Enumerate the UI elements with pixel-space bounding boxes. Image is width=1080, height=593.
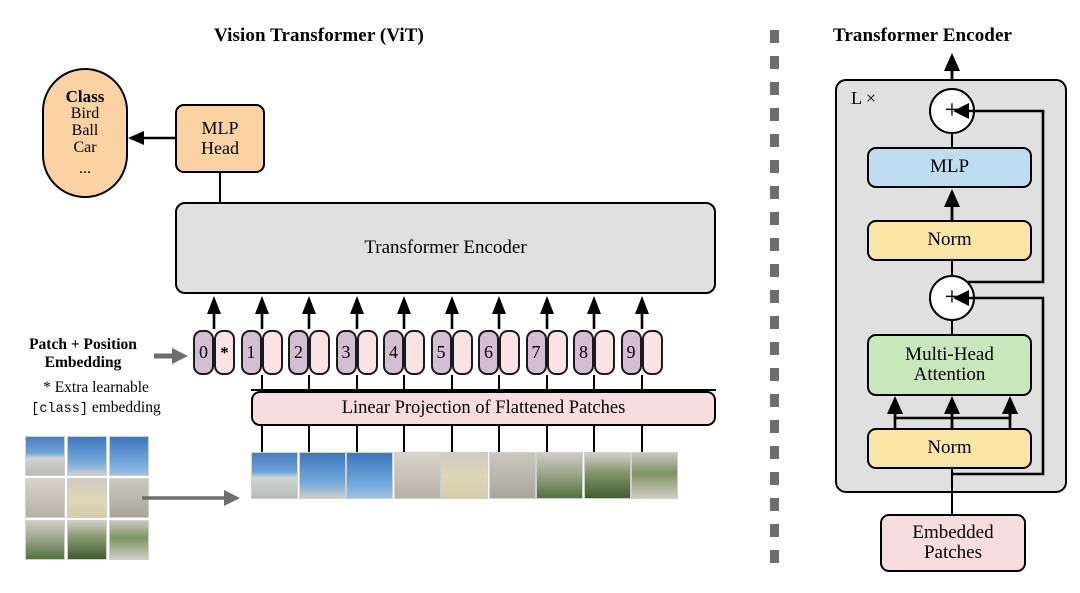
page-title-left: Vision Transformer (ViT) bbox=[214, 25, 424, 47]
token-to-projection-connector bbox=[356, 375, 358, 389]
token-to-encoder-arrow bbox=[632, 295, 652, 329]
class-output-box: Class Bird Ball Car ... bbox=[42, 68, 128, 198]
patch-position-embedding-label: Patch + Position Embedding bbox=[8, 336, 158, 372]
token-to-projection-connector bbox=[641, 375, 643, 389]
source-image-patch bbox=[67, 478, 107, 518]
embedded-patches-box: Embedded Patches bbox=[880, 514, 1026, 572]
patch-embedding-token: * bbox=[214, 330, 235, 375]
class-box-item: Bird bbox=[71, 106, 99, 123]
footnote-line1: * Extra learnable bbox=[16, 378, 176, 398]
mlp-head-label-line2: Head bbox=[201, 139, 239, 158]
token-to-encoder-arrow bbox=[584, 295, 604, 329]
source-image-patch bbox=[67, 436, 107, 476]
position-embedding-token: 4 bbox=[383, 330, 404, 375]
token-to-encoder-arrow bbox=[394, 295, 414, 329]
source-image-patch bbox=[109, 520, 149, 560]
class-box-item: Car bbox=[73, 140, 96, 157]
class-box-ellipsis: ... bbox=[79, 161, 91, 178]
flattened-patch bbox=[346, 452, 393, 499]
patch-embedding-token bbox=[547, 330, 568, 375]
class-box-item: Ball bbox=[72, 123, 99, 140]
footnote-class-token: [class] bbox=[31, 402, 88, 417]
position-embedding-token: 7 bbox=[526, 330, 547, 375]
source-image-patch bbox=[25, 478, 65, 518]
token-to-encoder-arrow bbox=[252, 295, 272, 329]
source-image-to-patches-arrow-icon bbox=[142, 488, 242, 508]
source-image-grid bbox=[25, 436, 151, 562]
token-to-projection-connector bbox=[261, 375, 263, 389]
embedding-label-line1: Patch + Position bbox=[8, 336, 158, 354]
mlp-head-label-line1: MLP bbox=[201, 119, 238, 138]
patch-embedding-token bbox=[594, 330, 615, 375]
token-to-projection-connector bbox=[498, 375, 500, 389]
token-to-projection-connector bbox=[308, 375, 310, 389]
position-embedding-token: 8 bbox=[573, 330, 594, 375]
transformer-encoder-bar: Transformer Encoder bbox=[175, 202, 716, 294]
linear-projection-bar: Linear Projection of Flattened Patches bbox=[251, 391, 716, 426]
embedding-label-arrow-icon bbox=[154, 346, 190, 366]
transformer-encoder-bar-label: Transformer Encoder bbox=[364, 238, 526, 258]
patch-embedding-token bbox=[404, 330, 425, 375]
flattened-patch bbox=[631, 452, 678, 499]
patch-embedding-token bbox=[262, 330, 283, 375]
position-embedding-token: 2 bbox=[288, 330, 309, 375]
token-to-encoder-arrow bbox=[442, 295, 462, 329]
position-embedding-token: 1 bbox=[241, 330, 262, 375]
token-to-encoder-arrow bbox=[489, 295, 509, 329]
panel-divider bbox=[770, 30, 779, 572]
flattened-patch bbox=[584, 452, 631, 499]
residual-skip-connection-lower bbox=[929, 283, 1059, 478]
embedded-patches-line2: Patches bbox=[924, 543, 982, 563]
residual-skip-connection-upper bbox=[929, 96, 1059, 286]
source-image-patch bbox=[25, 520, 65, 560]
source-image-patch bbox=[109, 436, 149, 476]
source-image-patch bbox=[67, 520, 107, 560]
flattened-patch bbox=[299, 452, 346, 499]
token-to-projection-connector bbox=[593, 375, 595, 389]
token-to-projection-connector bbox=[403, 375, 405, 389]
footnote-line2-suffix: embedding bbox=[88, 399, 161, 416]
position-embedding-token: 6 bbox=[478, 330, 499, 375]
class-box-heading: Class bbox=[66, 88, 105, 106]
token-to-projection-connector bbox=[546, 375, 548, 389]
page-title-right: Transformer Encoder bbox=[833, 25, 1012, 47]
token-to-encoder-arrow bbox=[347, 295, 367, 329]
class-embedding-footnote: * Extra learnable [class] embedding bbox=[16, 378, 176, 419]
flattened-patch bbox=[536, 452, 583, 499]
linear-projection-label: Linear Projection of Flattened Patches bbox=[342, 399, 626, 419]
repeat-count-label: L × bbox=[851, 88, 876, 109]
linear-projection-top-bus bbox=[251, 389, 716, 391]
flattened-patch bbox=[251, 452, 298, 499]
embedding-label-line2: Embedding bbox=[8, 354, 158, 372]
patch-embedding-token bbox=[642, 330, 663, 375]
token-to-encoder-arrow bbox=[537, 295, 557, 329]
patch-embedding-token bbox=[309, 330, 330, 375]
flattened-patch bbox=[394, 452, 441, 499]
flattened-patch-strip bbox=[251, 452, 716, 508]
mlp-head-encoder-connector bbox=[219, 172, 221, 203]
patch-embedding-token bbox=[452, 330, 473, 375]
patch-embedding-token bbox=[357, 330, 378, 375]
position-embedding-token: 9 bbox=[621, 330, 642, 375]
position-embedding-token: 3 bbox=[336, 330, 357, 375]
position-embedding-token: 0 bbox=[193, 330, 214, 375]
position-embedding-token: 5 bbox=[431, 330, 452, 375]
embedded-patches-to-norm-line bbox=[951, 469, 953, 515]
flattened-patch bbox=[441, 452, 488, 499]
token-to-encoder-arrow bbox=[299, 295, 319, 329]
embedded-patches-line1: Embedded bbox=[912, 523, 993, 543]
source-image-patch bbox=[25, 436, 65, 476]
mlp-head-to-class-arrow bbox=[126, 126, 178, 150]
flattened-patch bbox=[489, 452, 536, 499]
patch-embedding-token bbox=[499, 330, 520, 375]
token-to-projection-connector bbox=[451, 375, 453, 389]
token-to-encoder-arrow bbox=[204, 295, 224, 329]
mlp-head-box: MLP Head bbox=[175, 104, 265, 173]
